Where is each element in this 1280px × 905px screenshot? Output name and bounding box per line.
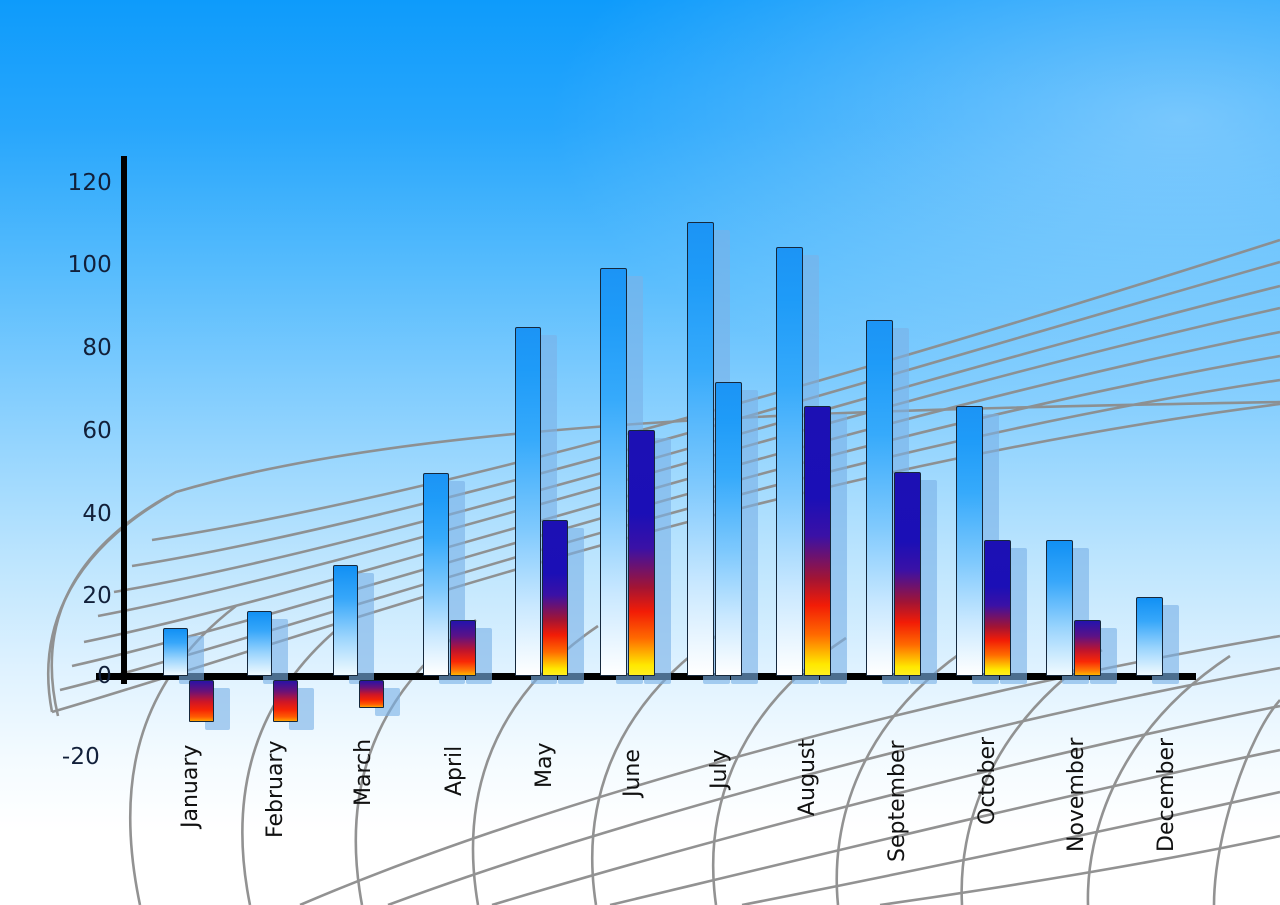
y-tick-120: 120 bbox=[42, 170, 112, 196]
x-tick-july: July bbox=[707, 749, 732, 789]
bar-face bbox=[359, 680, 384, 708]
x-tick-june: June bbox=[620, 749, 645, 797]
bar-face bbox=[894, 472, 921, 676]
bar-june-series1 bbox=[600, 268, 627, 676]
bar-february-series1 bbox=[247, 611, 272, 676]
y-tick-40: 40 bbox=[42, 501, 112, 527]
bar-face bbox=[628, 430, 655, 676]
bar-face bbox=[515, 327, 541, 676]
x-tick-january: January bbox=[178, 745, 203, 828]
bar-september-series2 bbox=[894, 472, 921, 676]
chart-canvas: 120 100 80 60 40 20 0 -20 bbox=[0, 0, 1280, 905]
x-tick-september: September bbox=[885, 740, 910, 862]
bar-june-series2 bbox=[628, 430, 655, 676]
bar-face bbox=[450, 620, 476, 676]
bar-november-series2 bbox=[1074, 620, 1101, 676]
y-tick-100: 100 bbox=[42, 252, 112, 278]
bar-face bbox=[956, 406, 983, 676]
x-tick-february: February bbox=[263, 741, 288, 839]
bar-face bbox=[715, 382, 742, 676]
bar-may-series2 bbox=[542, 520, 568, 676]
bar-face bbox=[600, 268, 627, 676]
bar-july-series1 bbox=[687, 222, 714, 676]
bar-july-series2 bbox=[715, 382, 742, 676]
bar-april-series1 bbox=[423, 473, 449, 676]
x-tick-december: December bbox=[1154, 738, 1179, 852]
y-tick-0: 0 bbox=[42, 663, 112, 689]
bar-face bbox=[984, 540, 1011, 676]
x-tick-april: April bbox=[442, 746, 467, 796]
bar-march-series1 bbox=[333, 565, 358, 676]
bar-face bbox=[247, 611, 272, 676]
x-tick-october: October bbox=[975, 737, 1000, 825]
bar-september-series1 bbox=[866, 320, 893, 676]
bar-august-series1 bbox=[776, 247, 803, 676]
bar-december-series1 bbox=[1136, 597, 1163, 676]
bar-face bbox=[423, 473, 449, 676]
bar-face bbox=[163, 628, 188, 676]
x-tick-august: August bbox=[795, 739, 820, 816]
bar-face bbox=[333, 565, 358, 676]
y-tick-neg20: -20 bbox=[30, 744, 100, 770]
bar-face bbox=[776, 247, 803, 676]
y-tick-80: 80 bbox=[42, 335, 112, 361]
bar-october-series2 bbox=[984, 540, 1011, 676]
bar-face bbox=[1074, 620, 1101, 676]
bar-august-series2 bbox=[804, 406, 831, 676]
bar-face bbox=[542, 520, 568, 676]
bar-face bbox=[273, 680, 298, 722]
bar-face bbox=[687, 222, 714, 676]
x-tick-may: May bbox=[532, 743, 557, 788]
bar-face bbox=[804, 406, 831, 676]
bar-may-series1 bbox=[515, 327, 541, 676]
y-axis bbox=[121, 156, 127, 684]
bar-face bbox=[1046, 540, 1073, 676]
bar-april-series2 bbox=[450, 620, 476, 676]
y-tick-60: 60 bbox=[42, 418, 112, 444]
bar-face bbox=[866, 320, 893, 676]
bar-face bbox=[189, 680, 214, 722]
x-tick-march: March bbox=[351, 739, 376, 806]
bar-january-series2 bbox=[189, 680, 214, 722]
bar-november-series1 bbox=[1046, 540, 1073, 676]
bar-march-series2 bbox=[359, 680, 384, 708]
bar-january-series1 bbox=[163, 628, 188, 676]
bar-february-series2 bbox=[273, 680, 298, 722]
bar-october-series1 bbox=[956, 406, 983, 676]
bar-face bbox=[1136, 597, 1163, 676]
x-tick-november: November bbox=[1064, 738, 1089, 852]
y-tick-20: 20 bbox=[42, 583, 112, 609]
